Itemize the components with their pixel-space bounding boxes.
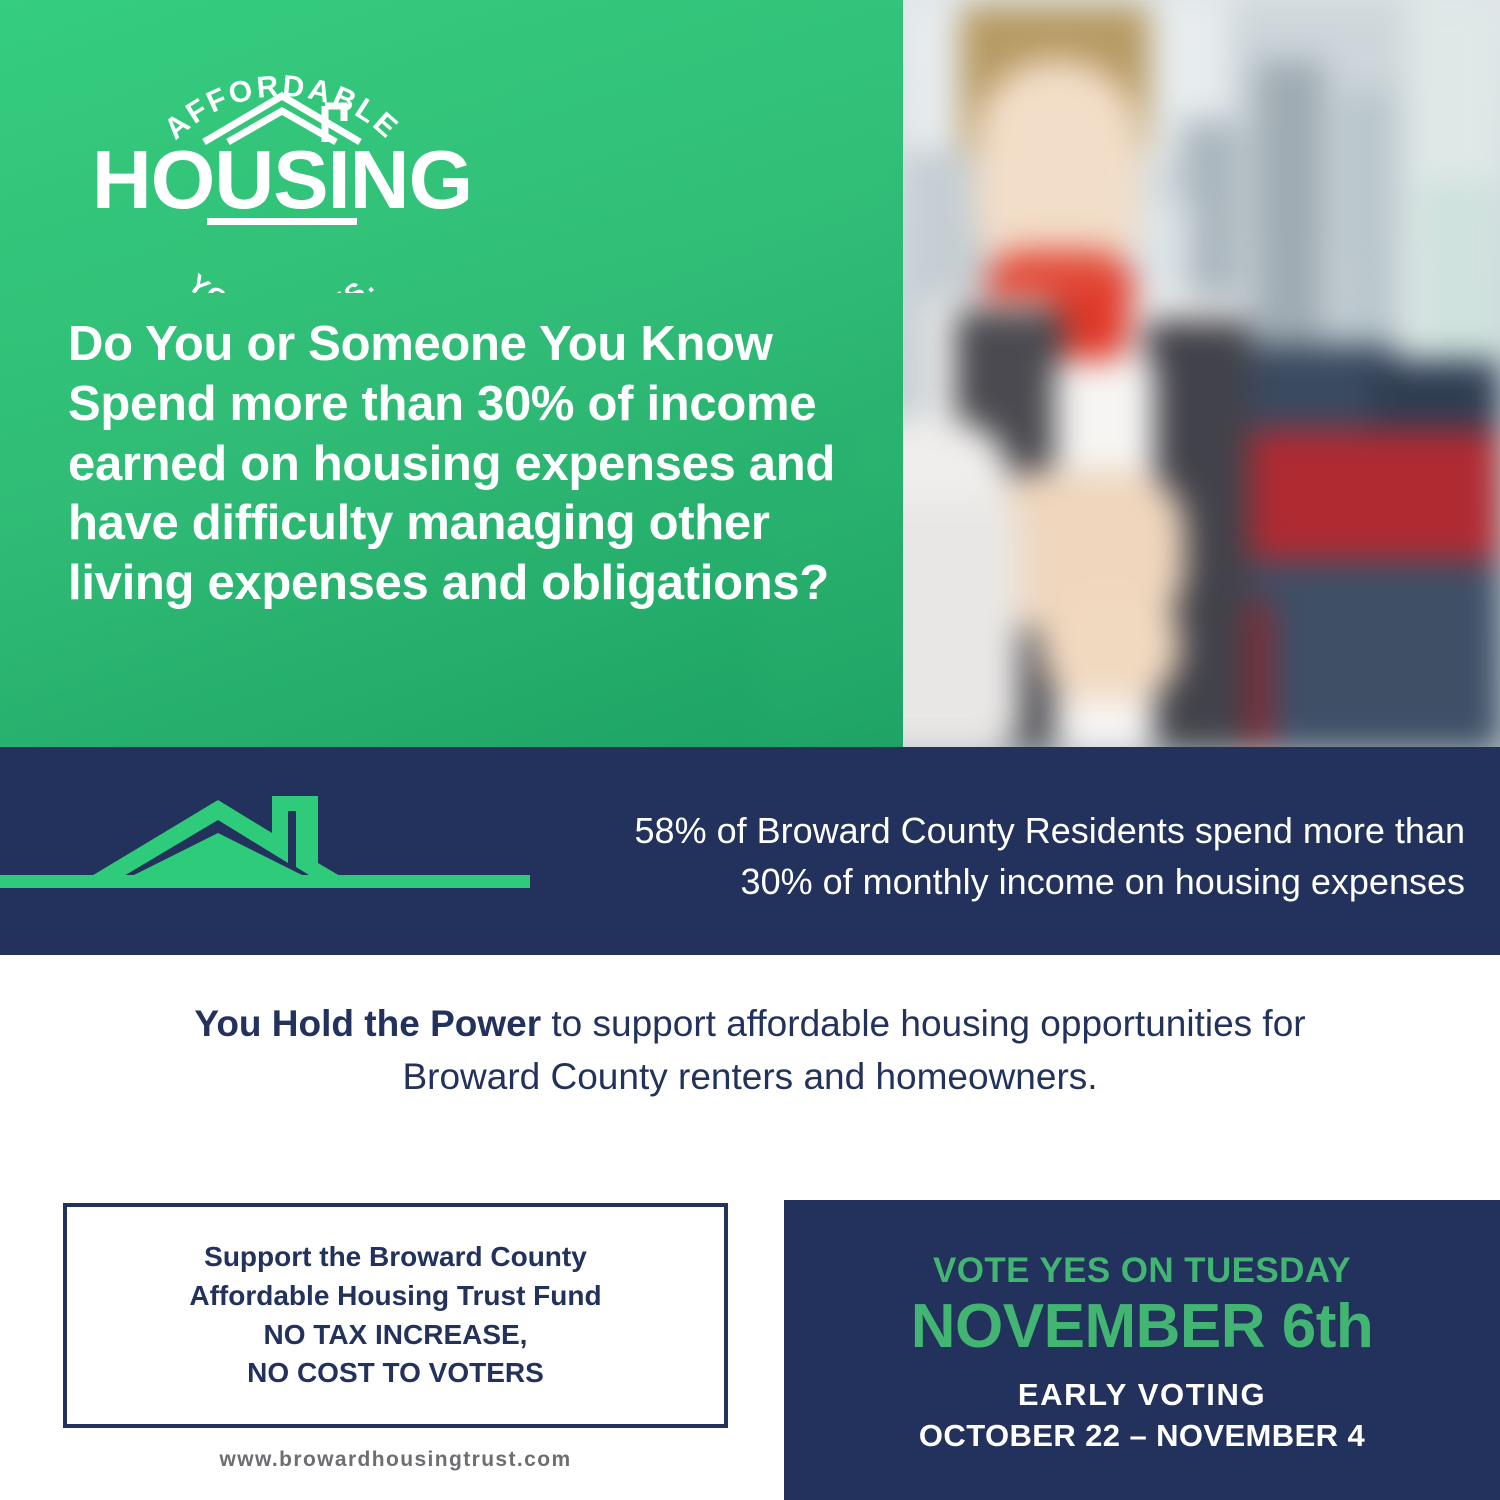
vote-information-panel: VOTE YES ON TUESDAY NOVEMBER 6th EARLY V…: [784, 1200, 1500, 1500]
vote-election-date: NOVEMBER 6th: [911, 1292, 1373, 1361]
statistic-line-2: 30% of monthly income on housing expense…: [420, 856, 1465, 907]
affordable-housing-logo: AFFORDABLE HOUSING YOU. ME. US.: [92, 58, 472, 293]
early-voting-label: EARLY VOTING: [1018, 1376, 1266, 1415]
support-trust-fund-box: Support the Broward County Affordable Ho…: [63, 1203, 728, 1428]
support-line-4: NO COST TO VOTERS: [189, 1354, 601, 1393]
early-voting-dates: OCTOBER 22 – NOVEMBER 4: [919, 1417, 1365, 1456]
support-line-2: Affordable Housing Trust Fund: [189, 1277, 601, 1316]
support-line-1: Support the Broward County: [189, 1238, 601, 1277]
support-line-3: NO TAX INCREASE,: [189, 1316, 601, 1355]
website-url[interactable]: www.browardhousingtrust.com: [63, 1448, 728, 1472]
logo-arc-bottom-text: YOU. ME. US.: [182, 268, 381, 293]
affordable-housing-poster: AFFORDABLE HOUSING YOU. ME. US. Do You o…: [0, 0, 1500, 1500]
statistic-line-1: 58% of Broward County Residents spend mo…: [420, 805, 1465, 856]
logo-wordmark: HOUSING: [92, 133, 472, 226]
power-statement-bold: You Hold the Power: [194, 1003, 541, 1044]
logo-underline: [207, 218, 357, 225]
hero-section: AFFORDABLE HOUSING YOU. ME. US. Do You o…: [0, 0, 1500, 747]
svg-text:YOU. ME. US.: YOU. ME. US.: [182, 268, 381, 293]
statistic-band: 58% of Broward County Residents spend mo…: [0, 747, 1500, 955]
support-trust-fund-text: Support the Broward County Affordable Ho…: [169, 1238, 621, 1393]
vote-call-to-action: VOTE YES ON TUESDAY: [933, 1252, 1351, 1291]
statistic-text: 58% of Broward County Residents spend mo…: [420, 805, 1465, 907]
power-statement: You Hold the Power to support affordable…: [150, 998, 1350, 1103]
hero-headline: Do You or Someone You Know Spend more th…: [68, 315, 858, 614]
